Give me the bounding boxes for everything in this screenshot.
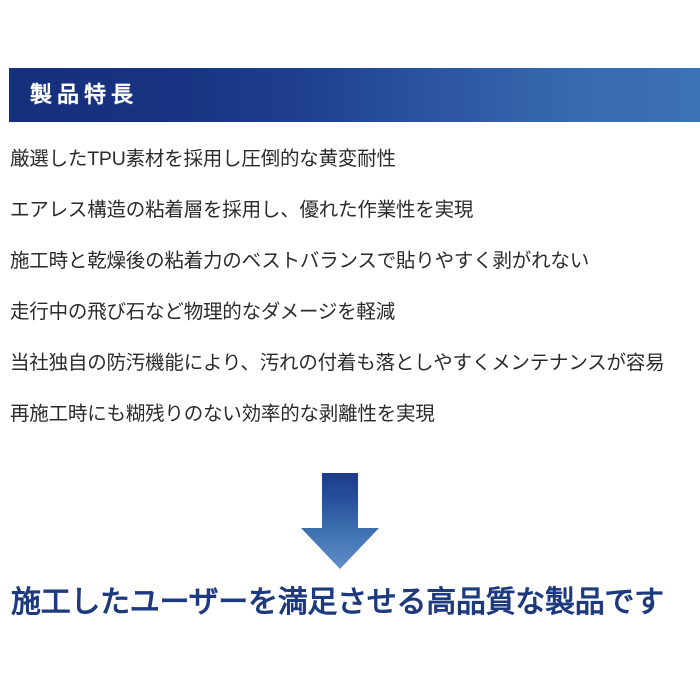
feature-text: 施工時と乾燥後の粘着力のベストバランスで貼りやすく剥がれない [10, 252, 589, 272]
feature-list: 厳選したTPU素材を採用し圧倒的な黄変耐性 エアレス構造の粘着層を採用し、優れた… [10, 150, 700, 456]
product-feature-panel: 製品特長 厳選したTPU素材を採用し圧倒的な黄変耐性 エアレス構造の粘着層を採用… [0, 0, 700, 700]
feature-list-item: 走行中の飛び石など物理的なダメージを軽減 [10, 303, 700, 354]
arrow-down-icon [300, 472, 380, 570]
feature-text: 厳選したTPU素材を採用し圧倒的な黄変耐性 [10, 150, 396, 170]
feature-text: 走行中の飛び石など物理的なダメージを軽減 [10, 303, 395, 323]
conclusion-headline: 施工したユーザーを満足させる高品質な製品です [11, 583, 700, 622]
feature-list-item: 再施工時にも糊残りのない効率的な剥離性を実現 [10, 405, 700, 456]
section-header-bar: 製品特長 [9, 68, 700, 122]
feature-text: 再施工時にも糊残りのない効率的な剥離性を実現 [10, 405, 435, 425]
section-header-title: 製品特長 [30, 84, 138, 106]
feature-list-item: エアレス構造の粘着層を採用し、優れた作業性を実現 [10, 201, 700, 252]
feature-text: 当社独自の防汚機能により、汚れの付着も落としやすくメンテナンスが容易 [10, 354, 664, 374]
feature-list-item: 当社独自の防汚機能により、汚れの付着も落としやすくメンテナンスが容易 [10, 354, 700, 405]
feature-list-item: 施工時と乾燥後の粘着力のベストバランスで貼りやすく剥がれない [10, 252, 700, 303]
feature-text: エアレス構造の粘着層を採用し、優れた作業性を実現 [10, 201, 473, 221]
feature-list-item: 厳選したTPU素材を採用し圧倒的な黄変耐性 [10, 150, 700, 201]
